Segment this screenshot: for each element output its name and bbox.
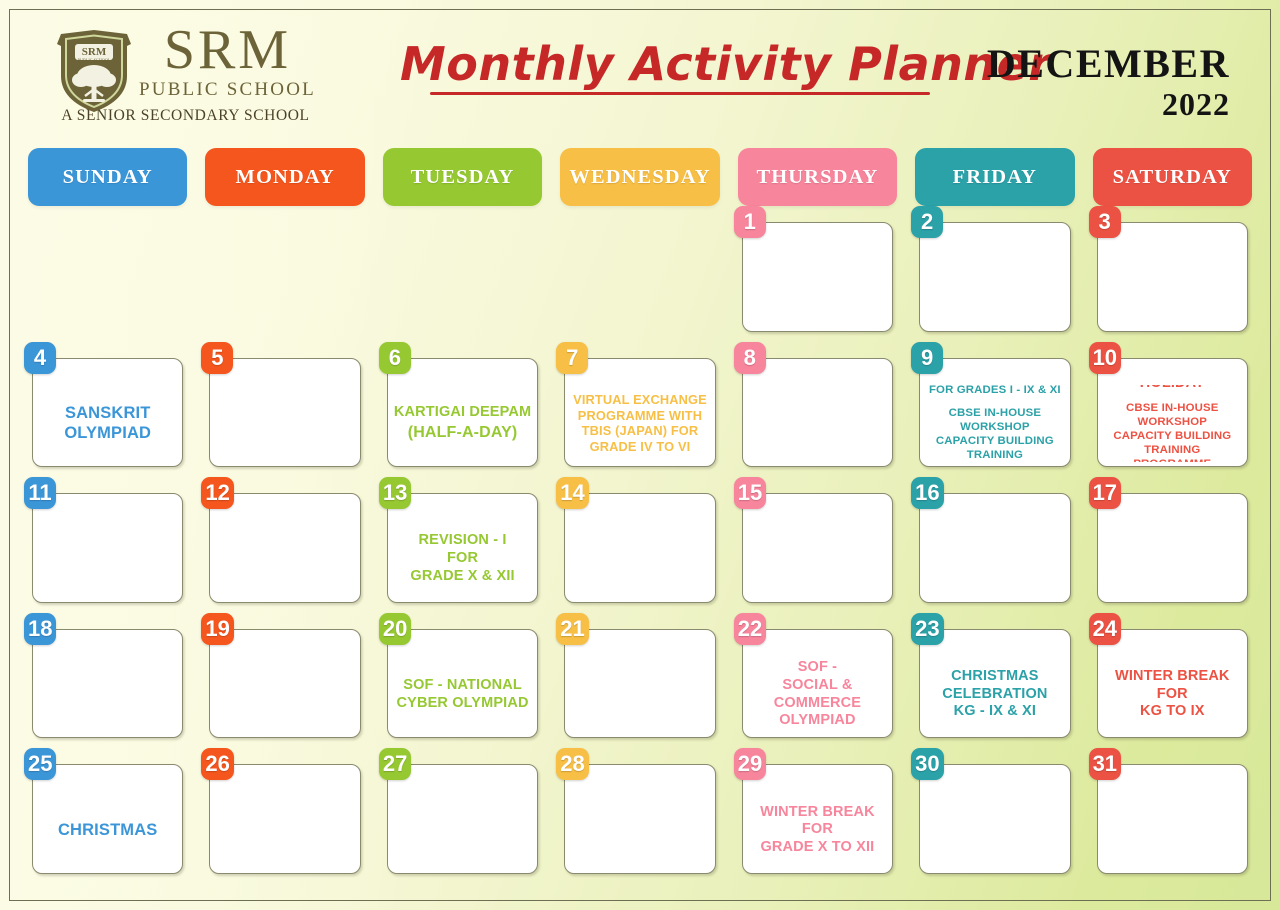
- day-number-badge: 25: [24, 748, 56, 780]
- calendar-cell-21: 21: [560, 621, 719, 749]
- event-line: WINTER BREAK: [1104, 668, 1241, 686]
- day-box[interactable]: HOLIDAYCBSE IN-HOUSE WORKSHOPCAPACITY BU…: [1097, 358, 1248, 468]
- day-number-badge: 27: [379, 748, 411, 780]
- event-entry: CHRISTMASCELEBRATIONKG - IX & XI: [926, 668, 1063, 721]
- calendar-cell-8: 8: [738, 350, 897, 478]
- calendar-cell-14: 14: [560, 485, 719, 613]
- calendar-cell-4: SANSKRITOLYMPIAD4: [28, 350, 187, 478]
- day-number-badge: 22: [734, 613, 766, 645]
- day-number-badge: 13: [379, 477, 411, 509]
- day-box[interactable]: CHRISTMAS: [32, 764, 183, 874]
- event-line: CBSE IN-HOUSE WORKSHOP: [1104, 402, 1241, 430]
- day-number-badge: 26: [201, 748, 233, 780]
- day-box[interactable]: [32, 629, 183, 739]
- calendar-cell-19: 19: [205, 621, 364, 749]
- day-events: HOLIDAYCBSE IN-HOUSE WORKSHOPCAPACITY BU…: [1104, 385, 1241, 463]
- weekday-header-wednesday: WEDNESDAY: [560, 148, 719, 206]
- day-number-badge: 12: [201, 477, 233, 509]
- event-line: TBIS (JAPAN) FOR: [571, 423, 708, 439]
- day-box[interactable]: [1097, 493, 1248, 603]
- calendar-cell-27: 27: [383, 756, 542, 884]
- day-events: [571, 520, 708, 598]
- planner-title-block: Monthly Activity Planner: [400, 40, 960, 95]
- day-events: [749, 249, 886, 327]
- day-number-badge: 21: [556, 613, 588, 645]
- weekday-header-tuesday: TUESDAY: [383, 148, 542, 206]
- day-number-badge: 15: [734, 477, 766, 509]
- day-box[interactable]: REVISION - IFORGRADE X & XII: [387, 493, 538, 603]
- event-entry: VIRTUAL EXCHANGEPROGRAMME WITHTBIS (JAPA…: [571, 392, 708, 454]
- calendar-cell-9: HOLIDAYFOR GRADES I - IX & XICBSE IN-HOU…: [915, 350, 1074, 478]
- day-events: [394, 791, 531, 869]
- event-line: OLYMPIAD: [39, 423, 176, 443]
- day-box[interactable]: SANSKRITOLYMPIAD: [32, 358, 183, 468]
- page-title: Monthly Activity Planner: [400, 40, 960, 88]
- day-number-badge: 28: [556, 748, 588, 780]
- event-entry: SOF -SOCIAL &COMMERCEOLYMPIAD: [749, 659, 886, 730]
- event-line: KG - IX & XI: [926, 703, 1063, 721]
- event-line: FOR: [1104, 686, 1241, 704]
- day-number-badge: 16: [911, 477, 943, 509]
- day-box[interactable]: [387, 764, 538, 874]
- day-box[interactable]: WINTER BREAKFORGRADE X TO XII: [742, 764, 893, 874]
- school-branding: SRM PUBLIC SCHOOL SRM PUBLIC SCHOOL A SE…: [55, 22, 345, 132]
- weekday-header-friday: FRIDAY: [915, 148, 1074, 206]
- day-box[interactable]: [564, 764, 715, 874]
- day-box[interactable]: [209, 493, 360, 603]
- day-box[interactable]: [1097, 222, 1248, 332]
- day-number-badge: 14: [556, 477, 588, 509]
- calendar-cell-2: 2: [915, 214, 1074, 342]
- event-entry: CHRISTMAS: [39, 820, 176, 840]
- weekday-header-row: SUNDAYMONDAYTUESDAYWEDNESDAYTHURSDAYFRID…: [28, 148, 1252, 206]
- day-events: [216, 656, 353, 734]
- calendar-cell-29: WINTER BREAKFORGRADE X TO XII29: [738, 756, 897, 884]
- day-events: HOLIDAYFOR GRADES I - IX & XICBSE IN-HOU…: [926, 385, 1063, 463]
- event-line: FOR: [394, 550, 531, 568]
- year-label: 2022: [987, 86, 1230, 123]
- day-events: [216, 791, 353, 869]
- day-box[interactable]: CHRISTMASCELEBRATIONKG - IX & XI: [919, 629, 1070, 739]
- calendar-grid: 123SANSKRITOLYMPIAD45KARTIGAI DEEPAM(HAL…: [28, 214, 1252, 884]
- event-line: CELEBRATION: [926, 686, 1063, 704]
- title-underline: [430, 92, 930, 95]
- month-year-block: DECEMBER 2022: [987, 44, 1230, 123]
- event-entry: CBSE IN-HOUSE WORKSHOPCAPACITY BUILDINGT…: [1104, 402, 1241, 462]
- event-line: REVISION - I: [394, 532, 531, 550]
- day-box[interactable]: SOF - NATIONALCYBER OLYMPIAD: [387, 629, 538, 739]
- day-box[interactable]: [209, 764, 360, 874]
- day-events: REVISION - IFORGRADE X & XII: [394, 520, 531, 598]
- day-events: [39, 656, 176, 734]
- event-line: GRADE IV TO VI: [571, 439, 708, 455]
- day-events: [749, 385, 886, 463]
- weekday-header-sunday: SUNDAY: [28, 148, 187, 206]
- day-number-badge: 10: [1089, 342, 1121, 374]
- event-entry: SANSKRITOLYMPIAD: [39, 403, 176, 443]
- day-events: [571, 656, 708, 734]
- event-line: CAPACITY BUILDING: [926, 435, 1063, 449]
- day-number-badge: 24: [1089, 613, 1121, 645]
- calendar-cell-6: KARTIGAI DEEPAM(HALF-A-DAY)6: [383, 350, 542, 478]
- day-box[interactable]: [919, 222, 1070, 332]
- calendar-cell-5: 5: [205, 350, 364, 478]
- day-number-badge: 23: [911, 613, 943, 645]
- event-line: VIRTUAL EXCHANGE: [571, 392, 708, 408]
- day-box[interactable]: [1097, 764, 1248, 874]
- day-box[interactable]: VIRTUAL EXCHANGEPROGRAMME WITHTBIS (JAPA…: [564, 358, 715, 468]
- event-line: GRADE X TO XII: [749, 839, 886, 857]
- day-number-badge: 19: [201, 613, 233, 645]
- day-number-badge: 9: [911, 342, 943, 374]
- day-number-badge: 29: [734, 748, 766, 780]
- event-line: (HALF-A-DAY): [394, 423, 531, 443]
- weekday-header-monday: MONDAY: [205, 148, 364, 206]
- day-box[interactable]: [742, 222, 893, 332]
- day-events: WINTER BREAKFORGRADE X TO XII: [749, 791, 886, 869]
- calendar-cell-25: CHRISTMAS25: [28, 756, 187, 884]
- event-line: SANSKRIT: [39, 403, 176, 423]
- event-entry: WINTER BREAKFORGRADE X TO XII: [749, 804, 886, 857]
- school-name: SRM: [164, 24, 291, 77]
- event-entry: SOF - NATIONALCYBER OLYMPIAD: [394, 677, 531, 712]
- event-entry: WINTER BREAKFORKG TO IX: [1104, 668, 1241, 721]
- day-number-badge: 31: [1089, 748, 1121, 780]
- event-line: FOR GRADES I - IX & XI: [926, 385, 1063, 398]
- day-events: SOF - NATIONALCYBER OLYMPIAD: [394, 656, 531, 734]
- svg-text:PUBLIC SCHOOL: PUBLIC SCHOOL: [78, 58, 111, 63]
- day-events: [749, 520, 886, 598]
- day-events: [571, 791, 708, 869]
- day-events: CHRISTMASCELEBRATIONKG - IX & XI: [926, 656, 1063, 734]
- day-box[interactable]: SOF -SOCIAL &COMMERCEOLYMPIAD: [742, 629, 893, 739]
- calendar-cell-30: 30: [915, 756, 1074, 884]
- school-crest-icon: SRM PUBLIC SCHOOL: [55, 28, 133, 114]
- day-number-badge: 4: [24, 342, 56, 374]
- event-line: HOLIDAY: [1104, 385, 1241, 393]
- day-number-badge: 7: [556, 342, 588, 374]
- calendar-cell-empty: [560, 214, 719, 342]
- day-number-badge: 11: [24, 477, 56, 509]
- event-line: COMMERCE: [749, 695, 886, 713]
- day-number-badge: 6: [379, 342, 411, 374]
- day-number-badge: 5: [201, 342, 233, 374]
- calendar-cell-31: 31: [1093, 756, 1252, 884]
- calendar-cell-20: SOF - NATIONALCYBER OLYMPIAD20: [383, 621, 542, 749]
- calendar-cell-empty: [383, 214, 542, 342]
- event-line: SOCIAL &: [749, 677, 886, 695]
- calendar-cell-empty: [28, 214, 187, 342]
- event-line: FOR: [749, 821, 886, 839]
- event-entry: HOLIDAYFOR GRADES I - IX & XI: [926, 385, 1063, 398]
- calendar-cell-24: WINTER BREAKFORKG TO IX24: [1093, 621, 1252, 749]
- day-number-badge: 1: [734, 206, 766, 238]
- day-events: KARTIGAI DEEPAM(HALF-A-DAY): [394, 385, 531, 463]
- day-box[interactable]: [32, 493, 183, 603]
- day-events: [216, 520, 353, 598]
- day-number-badge: 2: [911, 206, 943, 238]
- event-line: CHRISTMAS: [39, 820, 176, 840]
- day-number-badge: 30: [911, 748, 943, 780]
- event-line: PROGRAMME WITH: [571, 408, 708, 424]
- day-events: [1104, 791, 1241, 869]
- event-line: WINTER BREAK: [749, 804, 886, 822]
- event-line: SOF -: [749, 659, 886, 677]
- day-events: [39, 520, 176, 598]
- day-events: CHRISTMAS: [39, 791, 176, 869]
- event-line: KARTIGAI DEEPAM: [394, 404, 531, 422]
- month-label: DECEMBER: [987, 44, 1230, 84]
- event-line: TRAINING PROGRAMME: [1104, 444, 1241, 463]
- day-events: [926, 520, 1063, 598]
- calendar-cell-10: HOLIDAYCBSE IN-HOUSE WORKSHOPCAPACITY BU…: [1093, 350, 1252, 478]
- calendar-poster: SRM PUBLIC SCHOOL SRM PUBLIC SCHOOL A SE…: [0, 0, 1280, 910]
- calendar-cell-18: 18: [28, 621, 187, 749]
- calendar-cell-7: VIRTUAL EXCHANGEPROGRAMME WITHTBIS (JAPA…: [560, 350, 719, 478]
- event-line: SOF - NATIONAL: [394, 677, 531, 695]
- weekday-header-thursday: THURSDAY: [738, 148, 897, 206]
- day-events: SANSKRITOLYMPIAD: [39, 385, 176, 463]
- day-box[interactable]: [209, 358, 360, 468]
- day-box[interactable]: WINTER BREAKFORKG TO IX: [1097, 629, 1248, 739]
- day-events: [216, 385, 353, 463]
- calendar-cell-3: 3: [1093, 214, 1252, 342]
- event-entry: HOLIDAY: [1104, 385, 1241, 393]
- weekday-header-saturday: SATURDAY: [1093, 148, 1252, 206]
- calendar-cell-empty: [205, 214, 364, 342]
- day-box[interactable]: [564, 493, 715, 603]
- day-number-badge: 17: [1089, 477, 1121, 509]
- event-line: TRAINING PROGRAMME: [926, 449, 1063, 462]
- day-box[interactable]: [564, 629, 715, 739]
- day-number-badge: 20: [379, 613, 411, 645]
- calendar-cell-15: 15: [738, 485, 897, 613]
- calendar-cell-17: 17: [1093, 485, 1252, 613]
- calendar-cell-26: 26: [205, 756, 364, 884]
- calendar-cell-12: 12: [205, 485, 364, 613]
- day-box[interactable]: HOLIDAYFOR GRADES I - IX & XICBSE IN-HOU…: [919, 358, 1070, 468]
- calendar-cell-28: 28: [560, 756, 719, 884]
- day-events: SOF -SOCIAL &COMMERCEOLYMPIAD: [749, 656, 886, 734]
- day-events: [926, 249, 1063, 327]
- day-number-badge: 3: [1089, 206, 1121, 238]
- event-line: KG TO IX: [1104, 703, 1241, 721]
- event-line: GRADE X & XII: [394, 568, 531, 586]
- day-number-badge: 18: [24, 613, 56, 645]
- calendar-cell-22: SOF -SOCIAL &COMMERCEOLYMPIAD22: [738, 621, 897, 749]
- day-events: [926, 791, 1063, 869]
- event-line: CYBER OLYMPIAD: [394, 695, 531, 713]
- event-entry: (HALF-A-DAY): [394, 423, 531, 443]
- calendar-cell-11: 11: [28, 485, 187, 613]
- event-line: OLYMPIAD: [749, 712, 886, 730]
- event-line: CAPACITY BUILDING: [1104, 430, 1241, 444]
- day-box[interactable]: [742, 358, 893, 468]
- day-events: WINTER BREAKFORKG TO IX: [1104, 656, 1241, 734]
- calendar-cell-1: 1: [738, 214, 897, 342]
- calendar-cell-23: CHRISTMASCELEBRATIONKG - IX & XI23: [915, 621, 1074, 749]
- day-box[interactable]: [742, 493, 893, 603]
- event-entry: REVISION - IFORGRADE X & XII: [394, 532, 531, 585]
- day-box[interactable]: [209, 629, 360, 739]
- day-events: VIRTUAL EXCHANGEPROGRAMME WITHTBIS (JAPA…: [571, 385, 708, 463]
- school-subtitle: PUBLIC SCHOOL: [139, 79, 316, 101]
- day-box[interactable]: [919, 493, 1070, 603]
- poster-header: SRM PUBLIC SCHOOL SRM PUBLIC SCHOOL A SE…: [0, 0, 1280, 140]
- event-line: CHRISTMAS: [926, 668, 1063, 686]
- svg-text:SRM: SRM: [82, 46, 107, 58]
- day-events: [1104, 249, 1241, 327]
- calendar-cell-13: REVISION - IFORGRADE X & XII13: [383, 485, 542, 613]
- event-line: CBSE IN-HOUSE WORKSHOP: [926, 407, 1063, 435]
- day-box[interactable]: KARTIGAI DEEPAM(HALF-A-DAY): [387, 358, 538, 468]
- day-events: [1104, 520, 1241, 598]
- day-number-badge: 8: [734, 342, 766, 374]
- event-entry: CBSE IN-HOUSE WORKSHOPCAPACITY BUILDINGT…: [926, 407, 1063, 462]
- event-entry: KARTIGAI DEEPAM: [394, 404, 531, 422]
- calendar-cell-16: 16: [915, 485, 1074, 613]
- day-box[interactable]: [919, 764, 1070, 874]
